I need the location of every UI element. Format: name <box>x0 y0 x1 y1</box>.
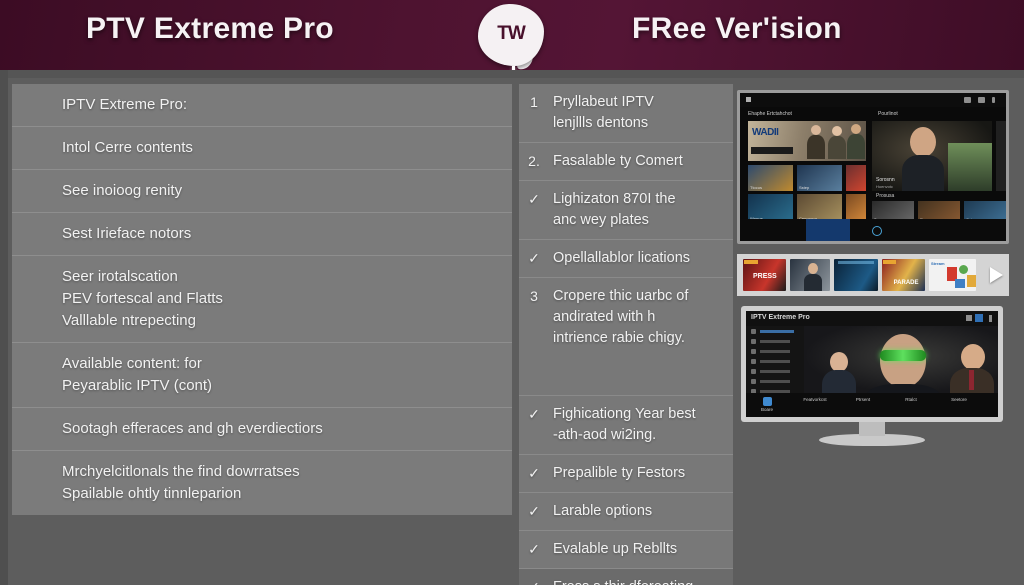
left-feature-list: IPTV Extreme Pro:Intol Cerre contentsSee… <box>12 84 512 515</box>
middle-list-row-line: lenjllls dentons <box>553 113 654 134</box>
green-sunglasses <box>880 350 926 361</box>
more-icon[interactable] <box>989 315 992 322</box>
middle-list-row: ✓Fighicationg Year best-ath-aod wi2ing. <box>519 396 733 455</box>
left-list-row-line: Sest Irieface notors <box>62 223 512 245</box>
nav-item: Featvorkcst <box>800 397 830 402</box>
left-list-row-line: Sootagh efferaces and gh everdiectiors <box>62 418 512 440</box>
middle-list-row: ✓Evalable up Rebllts <box>519 531 733 569</box>
middle-list-row-line: Larable options <box>553 501 652 522</box>
middle-list-row-text: Fighicationg Year best-ath-aod wi2ing. <box>553 404 696 446</box>
middle-list-row-text: Opellallablor lications <box>553 248 690 269</box>
left-list-row: Sootagh efferaces and gh everdiectiors <box>12 408 512 451</box>
thumbnail[interactable] <box>790 259 830 291</box>
middle-list-row: ✓Larable options <box>519 493 733 531</box>
middle-list-row: ✓Fress s thir dfereatingfiroce STIV picc… <box>519 569 733 585</box>
step-number: 3 <box>523 286 545 307</box>
left-list-row-line: Intol Cerre contents <box>62 137 512 159</box>
grid-section-label-2: Prosusa <box>876 193 894 199</box>
middle-list-row: 2.Fasalable ty Comert <box>519 143 733 181</box>
hero-tile: Sorosnn Hoenvotc <box>872 121 992 191</box>
thumbnail-title: PARADE <box>894 280 919 286</box>
thumbnail-title: PRESS <box>753 273 777 280</box>
left-list-row: Mrchyelcitlonals the find dowrratsesSpai… <box>12 451 512 515</box>
tile-caption: Sstep <box>799 185 809 190</box>
content-area: IPTV Extreme Pro:Intol Cerre contentsSee… <box>0 70 1024 585</box>
middle-list-row-text: Evalable up Rebllts <box>553 539 677 560</box>
logo-text: TW <box>478 4 544 66</box>
minimize-icon[interactable] <box>966 315 972 321</box>
cast-icon <box>978 97 985 103</box>
left-list-row-line: Spailable ohtly tinnleparion <box>62 483 512 505</box>
middle-list-row: ✓Prepalible ty Festors <box>519 455 733 493</box>
left-list-row: Sest Irieface notors <box>12 213 512 256</box>
check-icon: ✓ <box>523 248 545 269</box>
thumbnail[interactable]: PARADE <box>882 259 925 291</box>
tile: Sstep <box>797 165 842 191</box>
monitor-screen: IPTV Extreme Pro <box>746 311 998 417</box>
nav-item: Ptrsent <box>848 397 878 402</box>
middle-list-row-text: Fasalable ty Comert <box>553 151 683 172</box>
monitor-player-screenshot: IPTV Extreme Pro <box>741 306 1003 446</box>
featured-brand-label: WADII <box>752 127 778 138</box>
left-list-row-line: Peyarablic IPTV (cont) <box>62 375 512 397</box>
tile-caption: Ttocus <box>750 185 762 190</box>
hero-tile-partial <box>996 121 1009 191</box>
left-list-row: See inoioog renity <box>12 170 512 213</box>
check-icon: ✓ <box>523 404 545 425</box>
tile <box>846 165 866 191</box>
middle-list-row-line: intrience rabie chigy. <box>553 328 688 349</box>
tile <box>846 194 866 222</box>
check-icon: ✓ <box>523 463 545 484</box>
header-title-right: FRee Ver'ision <box>632 12 842 46</box>
check-icon: ✓ <box>523 189 545 210</box>
top-shade <box>0 70 1024 78</box>
player-stage <box>804 326 998 393</box>
middle-list-row-line: Lighizaton 870I the <box>553 189 676 210</box>
middle-list-row-line: Prepalible ty Festors <box>553 463 685 484</box>
left-list-row-line: Mrchyelcitlonals the find dowrratses <box>62 461 512 483</box>
comparison-infographic: PTV Extreme Pro TW FRee Ver'ision IPTV E… <box>0 0 1024 585</box>
thumbnail[interactable] <box>834 259 877 291</box>
badge <box>883 260 896 264</box>
header-title-left: PTV Extreme Pro <box>86 12 334 46</box>
middle-list-row-line: Fighicationg Year best <box>553 404 696 425</box>
middle-list-row-text: Cropere thic uarbc ofandirated with hint… <box>553 286 688 349</box>
grid-section-label-left: Ehaphe Ertctahchot <box>748 111 792 117</box>
left-list-row: Available content: forPeyarablic IPTV (c… <box>12 343 512 408</box>
hero-subcaption: Hoenvotc <box>876 184 893 189</box>
thumbnail-title: Stream <box>931 261 945 266</box>
middle-list-row: 1Pryllabeut IPTVlenjllls dentons <box>519 84 733 143</box>
middle-list-row-line: andirated with h <box>553 307 688 328</box>
person-silhouette <box>900 127 946 191</box>
iptv-app-grid-screenshot: Ehaphe Ertctahchot Pourlinot WADII <box>737 90 1009 244</box>
person-silhouette <box>806 125 826 159</box>
featured-banner: WADII <box>748 121 866 161</box>
bottom-nav-active[interactable] <box>806 219 850 241</box>
grid-section-label-right: Pourlinot <box>878 111 898 117</box>
nav-item: Rtalct <box>896 397 926 402</box>
left-list-row: Seer irotalscationPEV fortescal and Flat… <box>12 256 512 343</box>
middle-list-row-line: Evalable up Rebllts <box>553 539 677 560</box>
refresh-icon[interactable] <box>872 226 882 236</box>
left-list-row-line: IPTV Extreme Pro: <box>62 94 512 116</box>
tw-logo-icon: TW <box>478 4 544 66</box>
middle-list-row-line: anc wey plates <box>553 210 676 231</box>
person-silhouette <box>847 124 865 159</box>
middle-list-row-text: Larable options <box>553 501 652 522</box>
tile: Wnnue <box>748 194 793 222</box>
check-icon: ✓ <box>523 539 545 560</box>
left-list-row-line: Available content: for <box>62 353 512 375</box>
hero-caption: Sorosnn <box>876 177 895 183</box>
middle-list-row-text: Pryllabeut IPTVlenjllls dentons <box>553 92 654 134</box>
tile: Ttocus <box>748 165 793 191</box>
maximize-icon[interactable] <box>975 314 983 322</box>
player-sidebar <box>746 326 804 393</box>
header-banner: PTV Extreme Pro TW FRee Ver'ision <box>0 0 1024 70</box>
middle-list-row-line: Fress s thir dfereating <box>553 577 693 585</box>
middle-list-row-line: Cropere thic uarbc of <box>553 286 688 307</box>
middle-list-row-text: Prepalible ty Festors <box>553 463 685 484</box>
middle-list-row-line: Opellallablor lications <box>553 248 690 269</box>
play-icon[interactable] <box>990 267 1003 283</box>
person-silhouette <box>804 263 822 291</box>
middle-list-row-line: Fasalable ty Comert <box>553 151 683 172</box>
person-silhouette <box>828 126 846 159</box>
left-gutter <box>0 70 8 585</box>
featured-cta <box>751 147 793 154</box>
monitor-stand-neck <box>859 422 885 436</box>
left-list-row: Intol Cerre contents <box>12 127 512 170</box>
more-icon <box>992 97 995 103</box>
monitor-bezel: IPTV Extreme Pro <box>741 306 1003 422</box>
tile: Cenororor <box>797 194 842 222</box>
left-list-row-line: Valllable ntrepecting <box>62 310 512 332</box>
middle-list-row: 3Cropere thic uarbc ofandirated with hin… <box>519 278 733 396</box>
hero-scenery <box>948 143 992 191</box>
badge <box>744 260 758 264</box>
middle-list-row: ✓Lighizaton 870I theanc wey plates <box>519 181 733 240</box>
player-app-title: IPTV Extreme Pro <box>751 314 810 321</box>
middle-list-row-text: Fress s thir dfereatingfiroce STIV piccu… <box>553 577 693 585</box>
grid-icon <box>964 97 971 103</box>
check-icon: ✓ <box>523 577 545 585</box>
channel-thumbnail-strip: PRESS PARADE Stream <box>737 254 1009 296</box>
middle-list-row-line: Pryllabeut IPTV <box>553 92 654 113</box>
back-arrow-icon <box>746 97 751 102</box>
middle-list-row-line: -ath-aod wi2ing. <box>553 425 696 446</box>
nav-item: Boare <box>752 397 782 412</box>
check-icon: ✓ <box>523 501 545 522</box>
left-list-row-line: PEV fortescal and Flatts <box>62 288 512 310</box>
step-number: 1 <box>523 92 545 113</box>
player-bottom-nav: Boare Featvorkcst Ptrsent Rtalct Seetore <box>746 393 998 417</box>
right-media-column: Ehaphe Ertctahchot Pourlinot WADII <box>737 90 1013 446</box>
left-list-row-line: Seer irotalscation <box>62 266 512 288</box>
left-list-row: IPTV Extreme Pro: <box>12 84 512 127</box>
thumbnail[interactable]: Stream <box>929 259 976 291</box>
thumbnail[interactable]: PRESS <box>743 259 786 291</box>
left-list-row-line: See inoioog renity <box>62 180 512 202</box>
nav-item: Seetore <box>944 397 974 402</box>
step-number: 2. <box>523 151 545 172</box>
middle-feature-list: 1Pryllabeut IPTVlenjllls dentons2.Fasala… <box>519 84 733 585</box>
middle-list-row-text: Lighizaton 870I theanc wey plates <box>553 189 676 231</box>
middle-list-row: ✓Opellallablor lications <box>519 240 733 278</box>
